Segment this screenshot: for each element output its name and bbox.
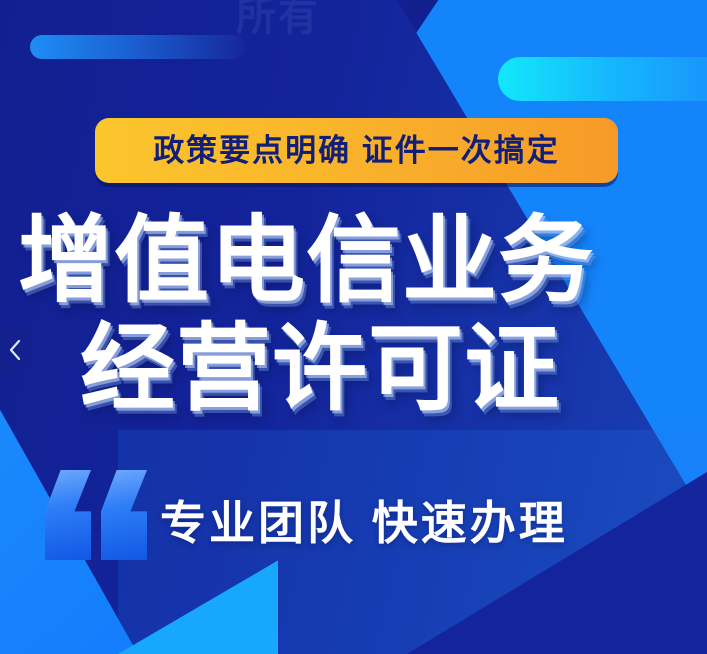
quote-mark-glyph-left <box>45 470 91 560</box>
headline-block: 增值电信业务 经营许可证 <box>0 214 707 416</box>
decorative-pill-left <box>30 35 245 59</box>
decorative-pill-right <box>498 57 707 101</box>
tagline-ribbon: 政策要点明确 证件一次搞定 <box>95 118 618 183</box>
quote-mark-glyph-right <box>101 470 147 560</box>
headline-line-2: 经营许可证 <box>0 322 707 416</box>
headline-line-1: 增值电信业务 <box>0 214 707 308</box>
carousel-banner-slide: 所有 政策要点明确 证件一次搞定 增值电信业务 经营许可证 专业团队 快速办理 <box>0 0 707 654</box>
watermark-text: 所有 <box>236 0 320 42</box>
subheadline-text: 专业团队 快速办理 <box>160 500 568 546</box>
tagline-ribbon-text: 政策要点明确 证件一次搞定 <box>153 135 560 166</box>
chevron-left-icon <box>8 339 22 361</box>
quote-mark-icon <box>45 470 161 562</box>
